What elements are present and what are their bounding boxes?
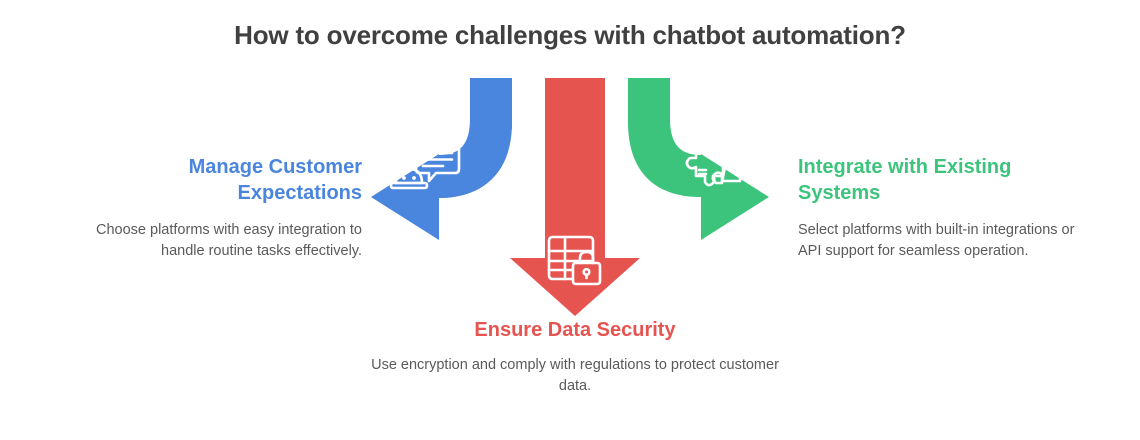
arrow-diagram: Manage Customer Expectations Choose plat… — [0, 0, 1140, 440]
branch-left-body: Choose platforms with easy integration t… — [62, 220, 362, 262]
branch-right-heading: Integrate with Existing Systems — [798, 155, 1078, 206]
branch-bottom-heading: Ensure Data Security — [370, 318, 780, 344]
branch-left: Manage Customer Expectations Choose plat… — [62, 155, 362, 262]
branch-bottom: Ensure Data Security Use encryption and … — [370, 318, 780, 397]
branch-right-body: Select platforms with built-in integrati… — [798, 220, 1078, 262]
branch-bottom-body: Use encryption and comply with regulatio… — [370, 355, 780, 397]
branch-left-heading: Manage Customer Expectations — [62, 155, 362, 206]
branch-right: Integrate with Existing Systems Select p… — [798, 155, 1078, 262]
